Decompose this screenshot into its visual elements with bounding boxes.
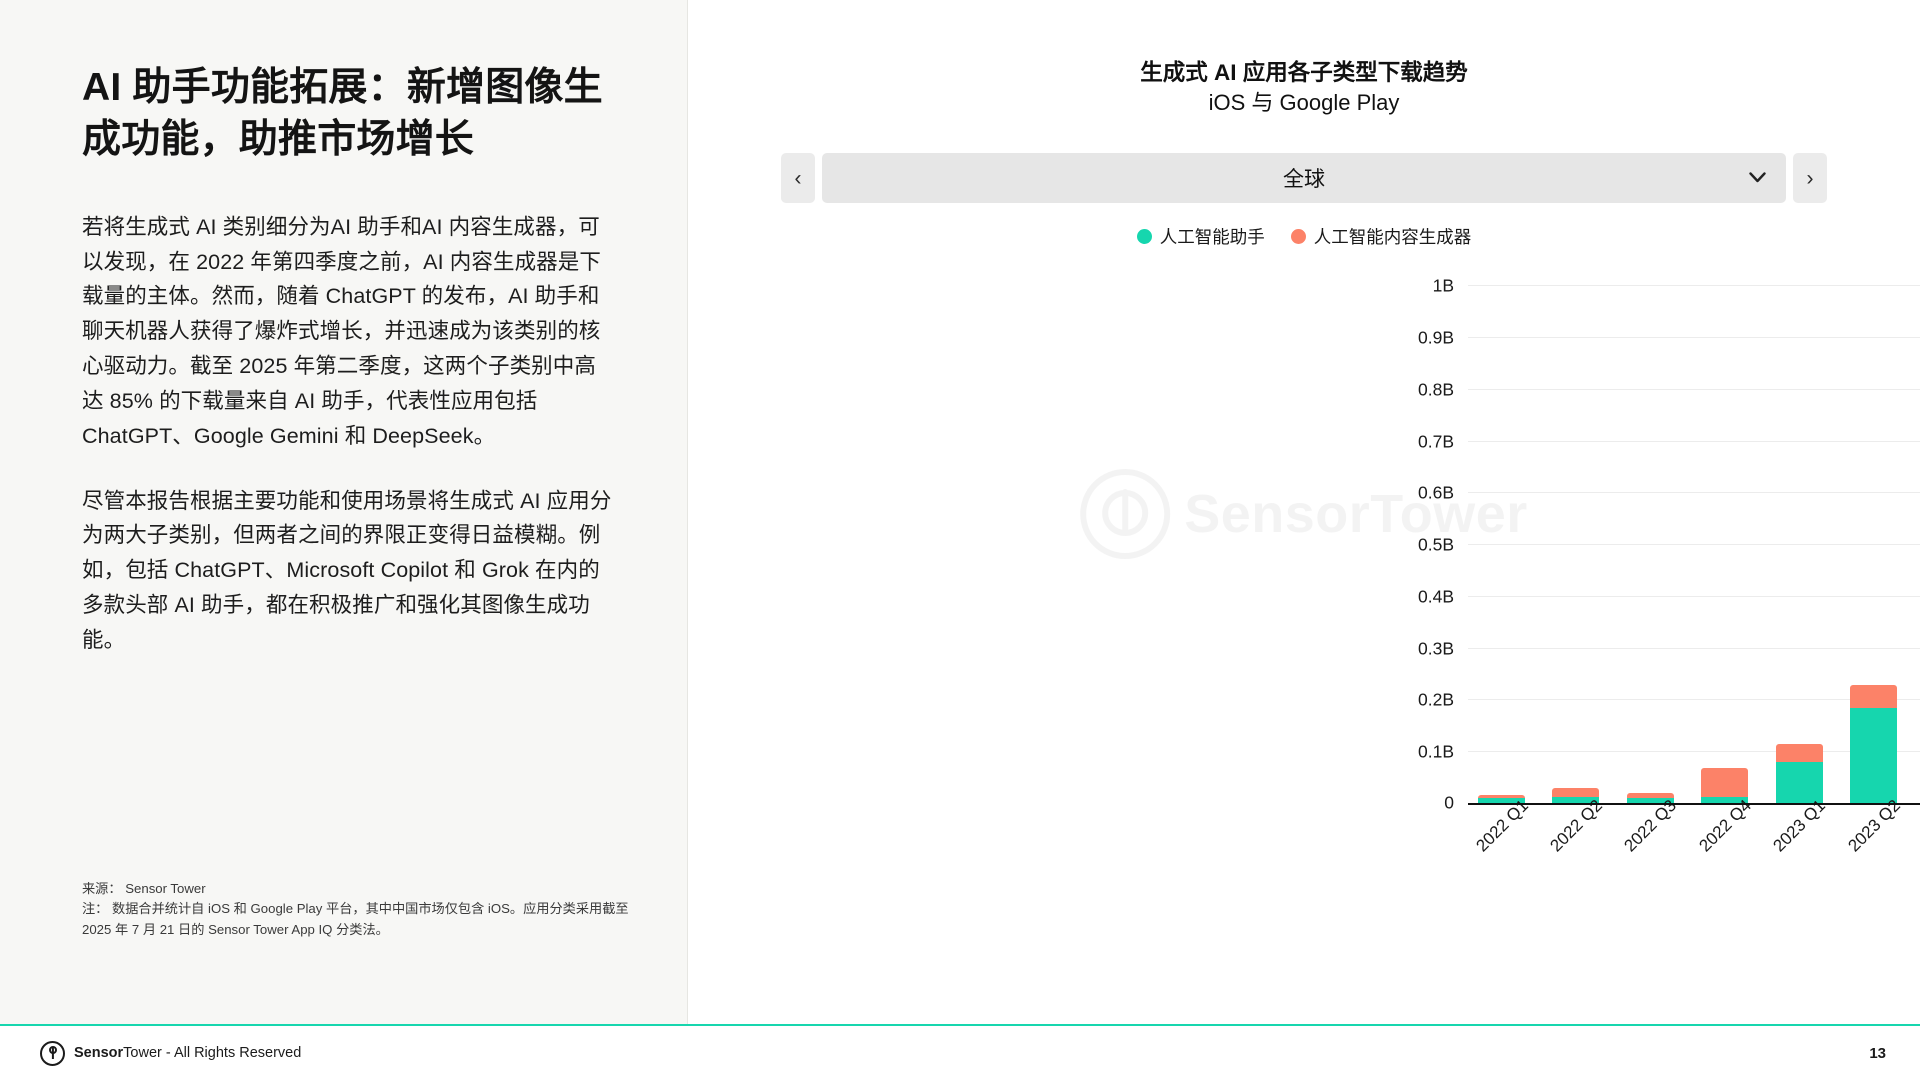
legend-label: 人工智能助手 — [1160, 224, 1265, 249]
y-axis-tick-label: 0.6B — [1418, 483, 1454, 504]
source-line: 来源： Sensor Tower — [82, 879, 642, 899]
slide: AI 助手功能拓展：新增图像生成功能，助推市场增长 若将生成式 AI 类别细分为… — [0, 0, 1920, 1080]
plot-area: 00.1B0.2B0.3B0.4B0.5B0.6B0.7B0.8B0.9B1B … — [1468, 285, 1920, 805]
bar-segment — [1850, 685, 1897, 708]
plot-wrapper: SensorTower 00.1B0.2B0.3B0.4B0.5B0.6B0.7… — [688, 267, 1920, 827]
y-axis-tick-label: 0.9B — [1418, 328, 1454, 349]
body-paragraph-2: 尽管本报告根据主要功能和使用场景将生成式 AI 应用分为两大子类别，但两者之间的… — [82, 484, 615, 658]
chart-subtitle: iOS 与 Google Play — [1209, 90, 1400, 115]
bar-column[interactable]: 2022 Q4 — [1701, 285, 1748, 803]
sensor-tower-logo-icon — [1080, 469, 1170, 559]
footer-brand-text: SensorTower - All Rights Reserved — [74, 1045, 301, 1061]
region-selector-row: ‹ 全球 › — [781, 153, 1827, 203]
bar-column[interactable]: 2023 Q1 — [1776, 285, 1823, 803]
x-axis-line — [1468, 803, 1920, 806]
legend-dot-icon — [1137, 229, 1152, 244]
y-axis-tick-label: 1B — [1433, 276, 1454, 297]
bar-column[interactable]: 2022 Q1 — [1478, 285, 1525, 803]
y-axis-tick-label: 0.2B — [1418, 690, 1454, 711]
bar-column[interactable]: 2022 Q3 — [1627, 285, 1674, 803]
y-axis-tick-label: 0.4B — [1418, 586, 1454, 607]
page-title: AI 助手功能拓展：新增图像生成功能，助推市场增长 — [82, 62, 612, 166]
next-region-button[interactable]: › — [1793, 153, 1827, 203]
left-text-panel: AI 助手功能拓展：新增图像生成功能，助推市场增长 若将生成式 AI 类别细分为… — [0, 0, 688, 1024]
footer-brand-rest: Tower — [123, 1045, 162, 1061]
bar-series-container: 2022 Q12022 Q22022 Q32022 Q42023 Q12023 … — [1468, 285, 1920, 803]
y-axis-tick-label: 0.5B — [1418, 535, 1454, 556]
body-paragraph-1: 若将生成式 AI 类别细分为AI 助手和AI 内容生成器，可以发现，在 2022… — [82, 210, 615, 454]
y-axis-tick-label: 0 — [1444, 792, 1454, 813]
region-select[interactable]: 全球 — [822, 153, 1786, 203]
page-number: 13 — [1869, 1045, 1886, 1062]
footer-brand: SensorTower - All Rights Reserved — [40, 1041, 301, 1066]
bar-column[interactable]: 2022 Q2 — [1552, 285, 1599, 803]
bar-column[interactable]: 2023 Q2 — [1850, 285, 1897, 803]
legend-dot-icon — [1291, 229, 1306, 244]
chart-title: 生成式 AI 应用各子类型下载趋势 iOS 与 Google Play — [924, 58, 1684, 118]
legend-label: 人工智能内容生成器 — [1314, 224, 1472, 249]
region-select-value: 全球 — [1283, 163, 1325, 193]
chevron-down-icon — [1749, 168, 1766, 188]
footnotes: 来源： Sensor Tower 注： 数据合并统计自 iOS 和 Google… — [82, 879, 642, 940]
chart-legend: 人工智能助手 人工智能内容生成器 — [688, 224, 1920, 249]
bar-segment — [1776, 744, 1823, 762]
bar-segment — [1701, 768, 1748, 796]
y-axis-tick-label: 0.8B — [1418, 379, 1454, 400]
sensor-tower-logo-icon — [40, 1041, 65, 1066]
y-axis-tick-label: 0.1B — [1418, 742, 1454, 763]
y-axis-tick-label: 0.3B — [1418, 638, 1454, 659]
prev-region-button[interactable]: ‹ — [781, 153, 815, 203]
footer-brand-bold: Sensor — [74, 1045, 123, 1061]
legend-item-ai-assistant[interactable]: 人工智能助手 — [1137, 224, 1265, 249]
note-line: 注： 数据合并统计自 iOS 和 Google Play 平台，其中中国市场仅包… — [82, 899, 642, 940]
chart-title-main: 生成式 AI 应用各子类型下载趋势 — [1140, 60, 1468, 85]
sensor-tower-watermark: SensorTower — [1080, 469, 1528, 559]
slide-body: AI 助手功能拓展：新增图像生成功能，助推市场增长 若将生成式 AI 类别细分为… — [0, 0, 1920, 1024]
legend-item-ai-content-generator[interactable]: 人工智能内容生成器 — [1291, 224, 1472, 249]
slide-footer: SensorTower - All Rights Reserved 13 — [0, 1024, 1920, 1080]
chart-panel: 生成式 AI 应用各子类型下载趋势 iOS 与 Google Play ‹ 全球… — [688, 0, 1920, 1024]
y-axis-tick-label: 0.7B — [1418, 431, 1454, 452]
footer-rights: - All Rights Reserved — [162, 1045, 301, 1061]
bar-segment — [1850, 708, 1897, 803]
